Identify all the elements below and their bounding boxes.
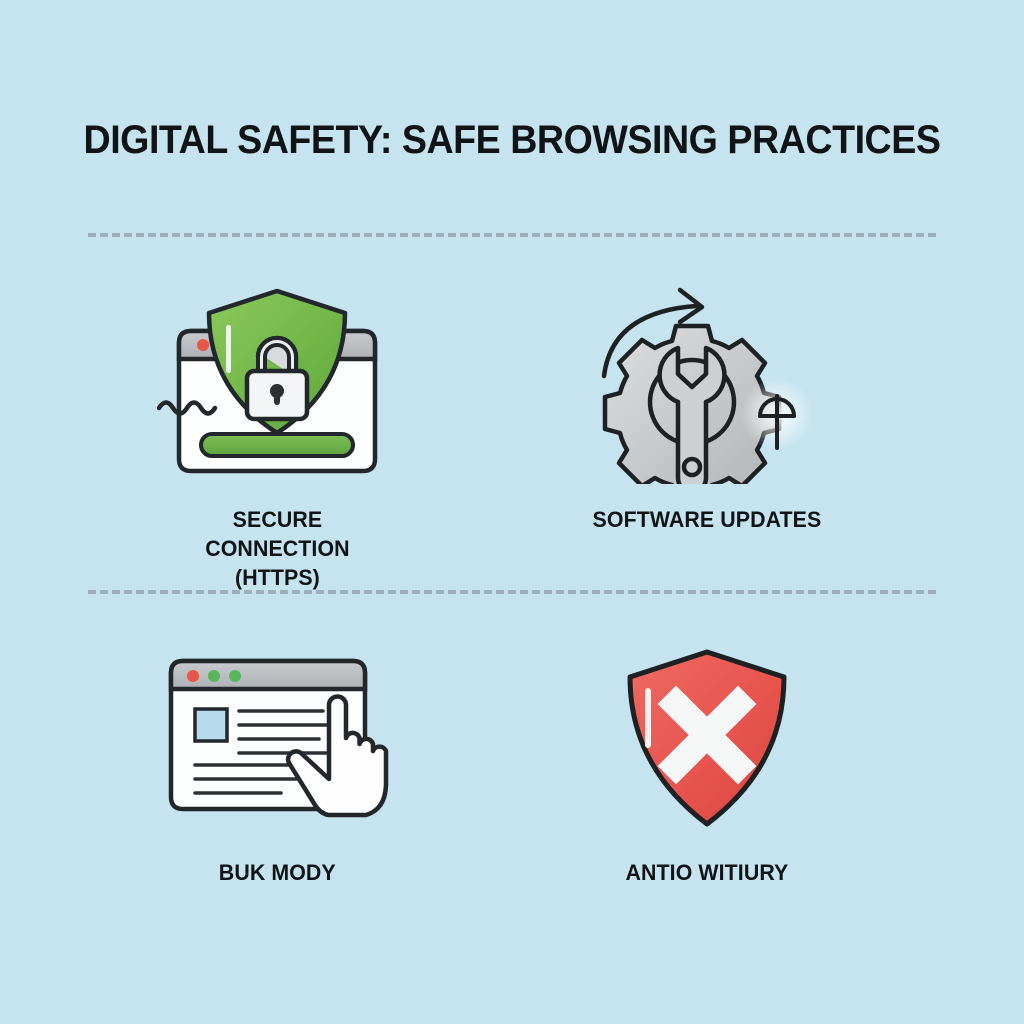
page-title: DIGITAL SAFETY: SAFE BROWSING PRACTICES (31, 118, 994, 163)
cards-grid: SECURE CONNECTION (HTTPS) (0, 256, 1024, 956)
icon-wrap-antio-witiury (612, 634, 802, 844)
browser-dot-red (197, 339, 209, 351)
browser-dot-green-2 (229, 670, 241, 682)
card-secure-connection: SECURE CONNECTION (HTTPS) (62, 276, 492, 592)
shield-highlight (226, 325, 231, 373)
browser-shield-lock-icon (157, 281, 397, 486)
content-image-placeholder (195, 709, 227, 741)
card-label-buk-mody: BUK MODY (219, 858, 336, 887)
card-label-secure-connection: SECURE CONNECTION (HTTPS) (205, 505, 349, 592)
label-line-1: ANTIO WITIURY (626, 858, 789, 887)
shield-highlight (645, 688, 651, 748)
card-label-antio-witiury: ANTIO WITIURY (626, 858, 789, 887)
label-line-1: BUK MODY (219, 858, 336, 887)
secure-address-bar (201, 434, 353, 456)
browser-click-hand-icon (157, 649, 397, 829)
update-indicator-icon (741, 378, 813, 450)
label-line-2: CONNECTION (205, 534, 349, 563)
label-line-3: (HTTPS) (205, 563, 349, 592)
icon-wrap-secure-connection (157, 276, 397, 491)
card-antio-witiury: ANTIO WITIURY (492, 634, 922, 887)
red-shield-x-icon (612, 644, 802, 834)
icon-wrap-software-updates (592, 276, 822, 491)
label-line-1: SECURE (205, 505, 349, 534)
card-label-software-updates: SOFTWARE UPDATES (593, 505, 822, 534)
card-buk-mody: BUK MODY (62, 634, 492, 887)
card-software-updates: SOFTWARE UPDATES (492, 276, 922, 534)
gear-wrench-refresh-icon (592, 284, 822, 484)
browser-dot-green-1 (208, 670, 220, 682)
icon-wrap-buk-mody (157, 634, 397, 844)
infographic-canvas: DIGITAL SAFETY: SAFE BROWSING PRACTICES (0, 0, 1024, 1024)
label-line-1: SOFTWARE UPDATES (593, 505, 822, 534)
divider-top (88, 233, 936, 237)
browser-dot-red (187, 670, 199, 682)
